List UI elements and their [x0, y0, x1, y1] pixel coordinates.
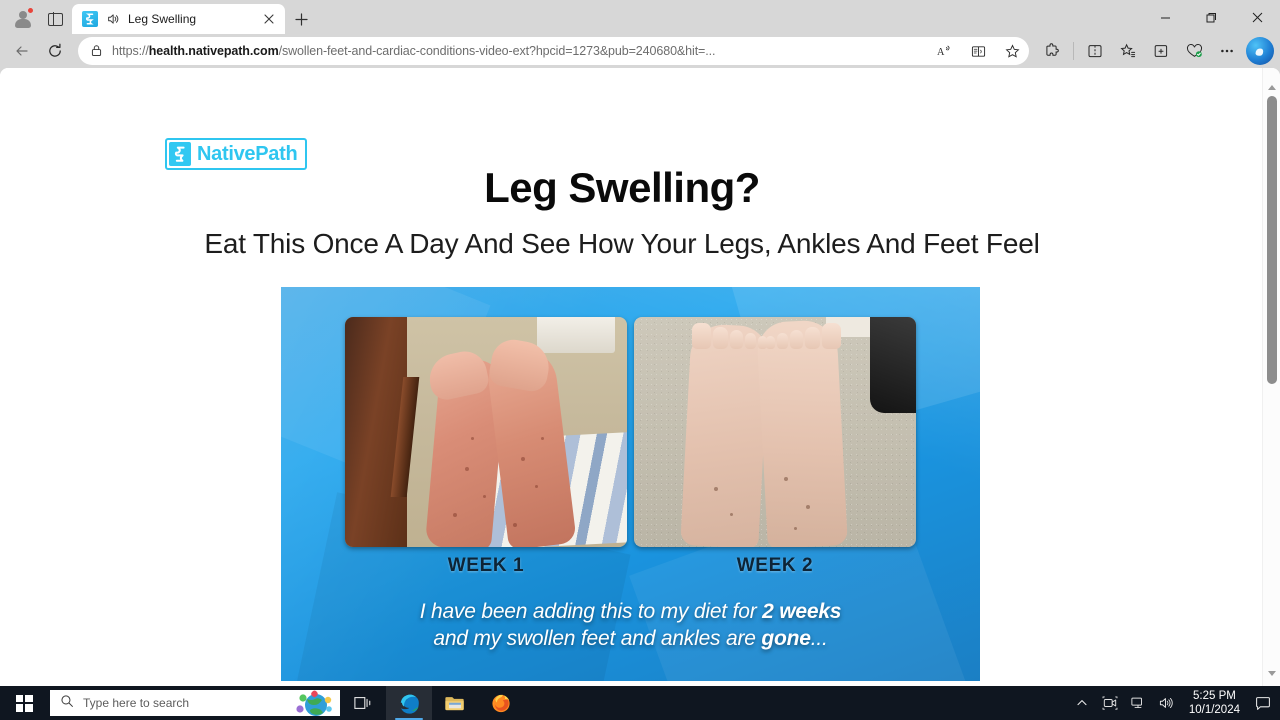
profile-alert-badge: [27, 7, 34, 14]
week2-label: WEEK 2: [634, 555, 916, 577]
navigation-toolbar: https://health.nativepath.com/swollen-fe…: [0, 34, 1280, 68]
video-caption-line1: I have been adding this to my diet for 2…: [281, 599, 980, 626]
settings-more-icon[interactable]: [1211, 36, 1243, 66]
speaker-playing-icon[interactable]: [105, 11, 121, 27]
page-subheadline: Eat This Once A Day And See How Your Leg…: [0, 228, 1244, 260]
video-caption-line2: and my swollen feet and ankles are gone.…: [281, 626, 980, 653]
vertical-tabs-button[interactable]: [40, 4, 70, 34]
show-hidden-icons-chevron[interactable]: [1069, 686, 1095, 720]
windows-taskbar: Type here to search: [0, 686, 1280, 720]
microsoft-edge-icon[interactable]: [386, 686, 432, 720]
week1-label: WEEK 1: [345, 555, 627, 577]
caption-line2-tail: ...: [811, 627, 828, 650]
video-player[interactable]: WEEK 1 WEEK 2 I have been adding this to…: [281, 287, 980, 681]
firefox-icon[interactable]: [478, 686, 524, 720]
back-button[interactable]: [6, 36, 38, 66]
profile-button[interactable]: [6, 4, 40, 34]
tab-title: Leg Swelling: [128, 12, 252, 26]
nativepath-favicon: [82, 11, 98, 27]
screen-recording-icon[interactable]: [1097, 686, 1123, 720]
address-bar[interactable]: https://health.nativepath.com/swollen-fe…: [78, 37, 1029, 65]
lock-icon: [90, 44, 104, 58]
notification-icon[interactable]: [1250, 686, 1276, 720]
before-after-photos: [345, 317, 917, 547]
new-tab-button[interactable]: [285, 4, 317, 34]
toolbar-buttons: [1036, 36, 1274, 66]
tab-strip: Leg Swelling: [0, 0, 1280, 34]
clock-date: 10/1/2024: [1189, 703, 1240, 717]
split-screen-icon[interactable]: [1079, 36, 1111, 66]
caption-line1-bold: 2 weeks: [762, 600, 841, 623]
refresh-button[interactable]: [39, 36, 71, 66]
restore-button[interactable]: [1188, 0, 1234, 34]
favorites-icon[interactable]: [1112, 36, 1144, 66]
task-view-icon[interactable]: [340, 686, 386, 720]
immersive-reader-icon[interactable]: [965, 39, 991, 63]
search-icon: [60, 694, 74, 713]
toolbar-divider: [1073, 42, 1074, 60]
file-explorer-icon[interactable]: [432, 686, 478, 720]
taskbar-clock[interactable]: 5:25 PM 10/1/2024: [1181, 686, 1248, 720]
volume-icon[interactable]: [1153, 686, 1179, 720]
search-highlights-globe-icon: [290, 690, 336, 716]
network-icon[interactable]: [1125, 686, 1151, 720]
page-viewport: NativePath Leg Swelling? Eat This Once A…: [0, 68, 1280, 686]
vertical-tabs-icon: [48, 13, 63, 26]
add-favorite-icon[interactable]: [999, 39, 1025, 63]
page-scrollbar[interactable]: [1262, 68, 1280, 686]
browser-tab[interactable]: Leg Swelling: [72, 4, 285, 34]
site-logo-text: NativePath: [197, 143, 297, 166]
caption-line1-plain: I have been adding this to my diet for: [420, 600, 762, 623]
read-aloud-icon[interactable]: A: [931, 39, 957, 63]
browser-window: Leg Swelling: [0, 0, 1280, 686]
clock-time: 5:25 PM: [1193, 689, 1236, 703]
web-page-content: NativePath Leg Swelling? Eat This Once A…: [0, 68, 1262, 686]
close-window-button[interactable]: [1234, 0, 1280, 34]
caption-line2-bold: gone: [761, 627, 810, 650]
close-tab-icon[interactable]: [259, 9, 279, 29]
scroll-up-arrow[interactable]: [1263, 78, 1280, 96]
week1-photo: [345, 317, 627, 547]
window-controls: [1142, 0, 1280, 34]
minimize-button[interactable]: [1142, 0, 1188, 34]
caption-line2-plain: and my swollen feet and ankles are: [433, 627, 761, 650]
week2-photo: [634, 317, 916, 547]
svg-text:A: A: [937, 47, 945, 58]
scroll-down-arrow[interactable]: [1263, 664, 1280, 682]
windows-logo-icon: [16, 695, 33, 712]
collections-icon[interactable]: [1145, 36, 1177, 66]
taskbar-search-box[interactable]: Type here to search: [50, 690, 340, 716]
nativepath-logo-mark: [169, 142, 191, 166]
url-text: https://health.nativepath.com/swollen-fe…: [112, 44, 923, 58]
page-headline: Leg Swelling?: [0, 164, 1244, 212]
scrollbar-thumb[interactable]: [1267, 96, 1277, 384]
extensions-icon[interactable]: [1036, 36, 1068, 66]
copilot-icon[interactable]: [1246, 37, 1274, 65]
week-labels: WEEK 1 WEEK 2: [345, 555, 917, 577]
start-button[interactable]: [0, 686, 48, 720]
browser-essentials-icon[interactable]: [1178, 36, 1210, 66]
system-tray: 5:25 PM 10/1/2024: [1069, 686, 1280, 720]
video-caption: I have been adding this to my diet for 2…: [281, 599, 980, 653]
